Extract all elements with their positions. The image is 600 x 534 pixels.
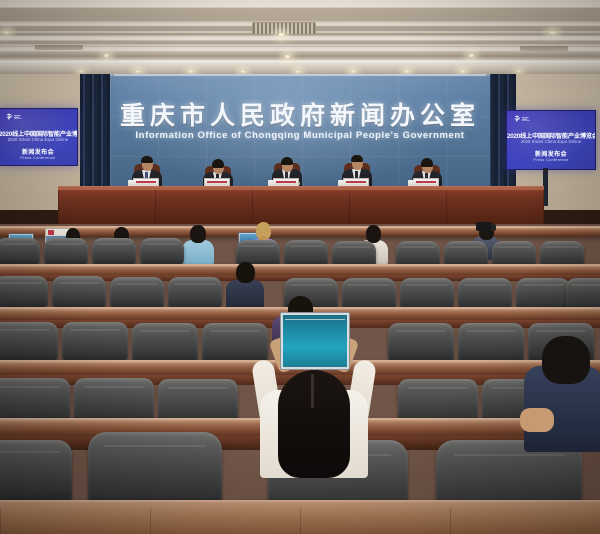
event-screen-right-title-en: 2020 Smart China Expo Online [507, 139, 595, 144]
ceiling-vent-left [35, 45, 83, 50]
event-screen-left-title-en: 2020 Smart China Expo Online [0, 137, 77, 142]
seat [400, 278, 454, 309]
seat [516, 278, 570, 309]
seat [388, 323, 454, 361]
head [278, 370, 350, 478]
seat [132, 323, 198, 361]
ceiling [0, 0, 600, 76]
desk-seams [0, 508, 600, 534]
seat [110, 277, 164, 308]
press-conference-photo: 重庆市人民政府新闻办公室 Information Office of Chong… [0, 0, 600, 534]
seat [458, 278, 512, 309]
hair-part [311, 374, 314, 408]
seat [0, 276, 48, 307]
seat [284, 240, 328, 266]
ceiling-spotlight [103, 53, 110, 58]
seat [52, 276, 106, 307]
seat [168, 277, 222, 308]
event-screen-left: 2020线上中国国际智能产业博览会 2020 Smart China Expo … [0, 108, 78, 166]
seat [88, 432, 222, 506]
ceiling-spotlight [468, 53, 475, 58]
seat [458, 323, 524, 361]
ceiling-spotlight [277, 32, 286, 37]
seat [92, 238, 136, 264]
expo-logo-icon [513, 115, 533, 126]
ceiling-spotlight [284, 54, 291, 59]
backdrop-headline-en: Information Office of Chongqing Municipa… [110, 130, 490, 141]
seat [566, 278, 600, 309]
event-screen-right-subtitle-en: Press Conference [507, 157, 595, 162]
speakers-podium [58, 188, 544, 228]
ceiling-spotlight [2, 30, 11, 35]
seat [140, 238, 184, 264]
seat [342, 278, 396, 309]
recording-tablet[interactable] [280, 312, 350, 370]
desk-row [0, 226, 600, 237]
ceiling-vent-right [520, 46, 568, 51]
event-screen-right: 2020线上中国国际智能产业博览会 2020 Smart China Expo … [506, 110, 596, 170]
seat [44, 238, 88, 264]
expo-logo-icon [5, 113, 25, 124]
seat [0, 322, 58, 360]
event-screen-left-subtitle-en: Press Conference [0, 155, 77, 160]
seat [0, 440, 72, 502]
backdrop-headline-cn: 重庆市人民政府新闻办公室 [110, 96, 490, 132]
seat [62, 322, 128, 360]
seat [202, 323, 268, 361]
seat [0, 238, 40, 264]
ceiling-spotlight [548, 30, 557, 35]
